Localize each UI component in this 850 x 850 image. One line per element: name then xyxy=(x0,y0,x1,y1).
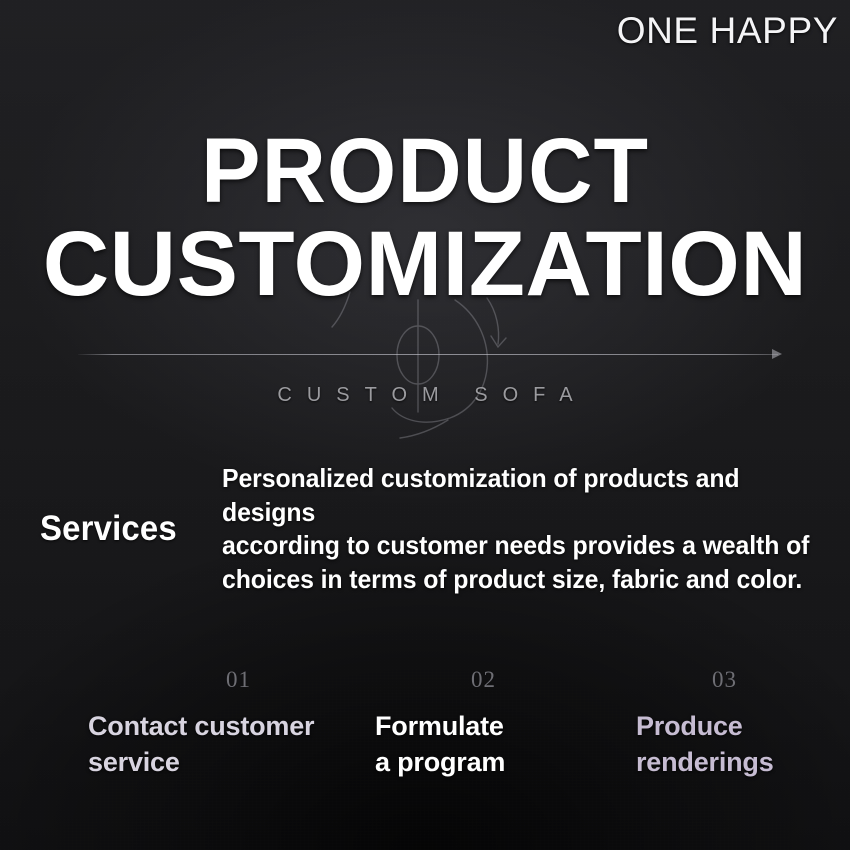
subtitle-custom-sofa: CUSTOM SOFA xyxy=(0,384,850,407)
step-1-number: 01 xyxy=(226,668,338,691)
divider-arrow-icon xyxy=(772,349,782,359)
process-step-1: 01 Contact customer service xyxy=(88,668,338,781)
step-2-number: 02 xyxy=(471,668,595,691)
step-1-title-line-2: service xyxy=(88,747,180,777)
step-1-title: Contact customer service xyxy=(88,709,338,781)
step-3-title: Produce renderings xyxy=(636,709,841,781)
services-label: Services xyxy=(40,509,177,549)
divider-line xyxy=(78,354,778,355)
page-title: PRODUCT CUSTOMIZATION xyxy=(0,126,850,310)
step-2-title-line-1: Formulate xyxy=(375,711,504,741)
step-1-title-line-1: Contact customer xyxy=(88,711,314,741)
page-title-line-1: PRODUCT xyxy=(13,126,838,217)
step-3-title-line-2: renderings xyxy=(636,747,774,777)
page-title-line-2: CUSTOMIZATION xyxy=(0,219,850,310)
services-description: Personalized customization of products a… xyxy=(222,462,813,596)
step-3-number: 03 xyxy=(712,668,841,691)
process-step-2: 02 Formulate a program xyxy=(375,668,595,781)
services-section: Services Personalized customization of p… xyxy=(40,462,840,596)
step-3-title-line-1: Produce xyxy=(636,711,743,741)
services-description-line-3: choices in terms of product size, fabric… xyxy=(222,563,813,597)
brand-name: ONE HAPPY xyxy=(617,12,838,49)
services-description-line-2: according to customer needs provides a w… xyxy=(222,529,813,563)
process-steps: 01 Contact customer service 02 Formulate… xyxy=(0,668,850,818)
services-description-line-1: Personalized customization of products a… xyxy=(222,462,813,529)
process-step-3: 03 Produce renderings xyxy=(636,668,841,781)
step-2-title-line-2: a program xyxy=(375,747,505,777)
step-2-title: Formulate a program xyxy=(375,709,595,781)
product-customization-banner: ONE HAPPY PRODUCT CUSTOMIZATION CUSTOM S… xyxy=(0,0,850,850)
